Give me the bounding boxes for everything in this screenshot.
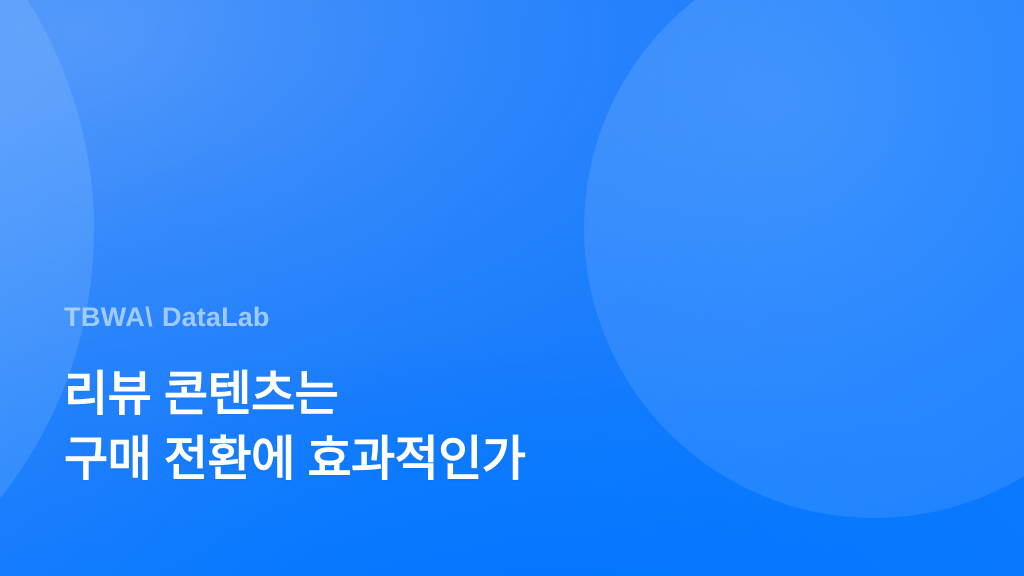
brand-lockup: TBWA\ DataLab [64,304,525,331]
page-title: 리뷰 콘텐츠는 구매 전환에 효과적인가 [64,363,525,492]
brand-name-tbwa: TBWA\ [64,304,153,331]
headline-line-1: 리뷰 콘텐츠는 [64,363,525,427]
brand-name-datalab: DataLab [162,304,269,331]
title-slide: TBWA\ DataLab 리뷰 콘텐츠는 구매 전환에 효과적인가 [0,0,1024,576]
slide-content: TBWA\ DataLab 리뷰 콘텐츠는 구매 전환에 효과적인가 [64,304,525,492]
headline-line-2: 구매 전환에 효과적인가 [64,428,525,492]
